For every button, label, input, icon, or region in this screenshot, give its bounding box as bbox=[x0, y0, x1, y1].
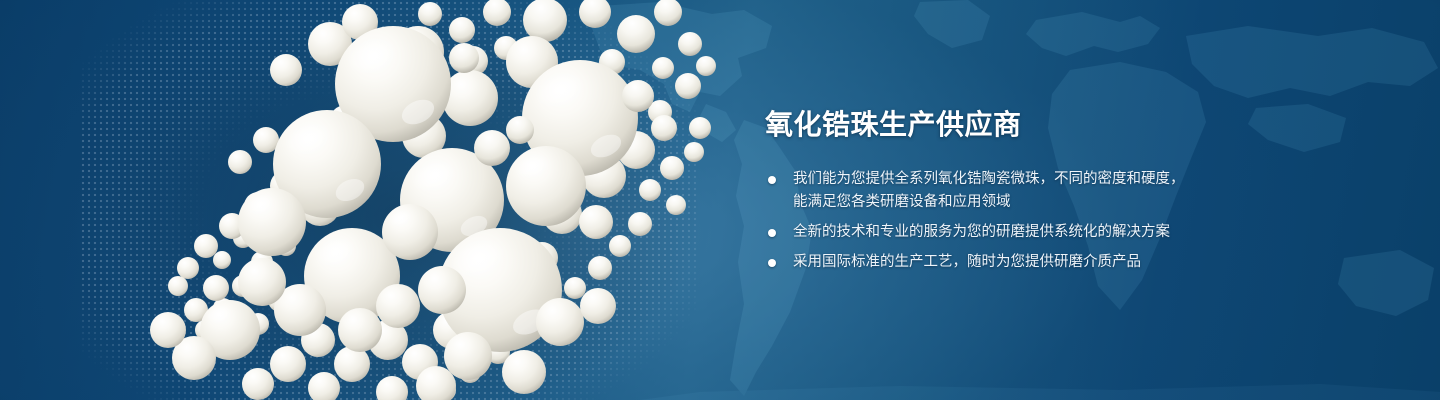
bullet-dot-icon bbox=[768, 176, 776, 184]
banner-copy: 氧化锆珠生产供应商 我们能为您提供全系列氧化锆陶瓷微珠，不同的密度和硬度，能满足… bbox=[765, 108, 1405, 274]
list-item-label: 采用国际标准的生产工艺，随时为您提供研磨介质产品 bbox=[793, 251, 1195, 274]
bullet-dot-icon bbox=[768, 229, 776, 237]
list-item: 采用国际标准的生产工艺，随时为您提供研磨介质产品 bbox=[765, 251, 1195, 274]
hero-banner: 氧化锆珠生产供应商 我们能为您提供全系列氧化锆陶瓷微珠，不同的密度和硬度，能满足… bbox=[0, 0, 1440, 400]
feature-list: 我们能为您提供全系列氧化锆陶瓷微珠，不同的密度和硬度，能满足您各类研磨设备和应用… bbox=[765, 168, 1405, 274]
list-item-label: 全新的技术和专业的服务为您的研磨提供系统化的解决方案 bbox=[793, 221, 1195, 244]
list-item: 我们能为您提供全系列氧化锆陶瓷微珠，不同的密度和硬度，能满足您各类研磨设备和应用… bbox=[765, 168, 1195, 214]
list-item-label: 我们能为您提供全系列氧化锆陶瓷微珠，不同的密度和硬度，能满足您各类研磨设备和应用… bbox=[793, 168, 1195, 214]
list-item: 全新的技术和专业的服务为您的研磨提供系统化的解决方案 bbox=[765, 221, 1195, 244]
bullet-dot-icon bbox=[768, 259, 776, 267]
page-title: 氧化锆珠生产供应商 bbox=[765, 108, 1405, 142]
